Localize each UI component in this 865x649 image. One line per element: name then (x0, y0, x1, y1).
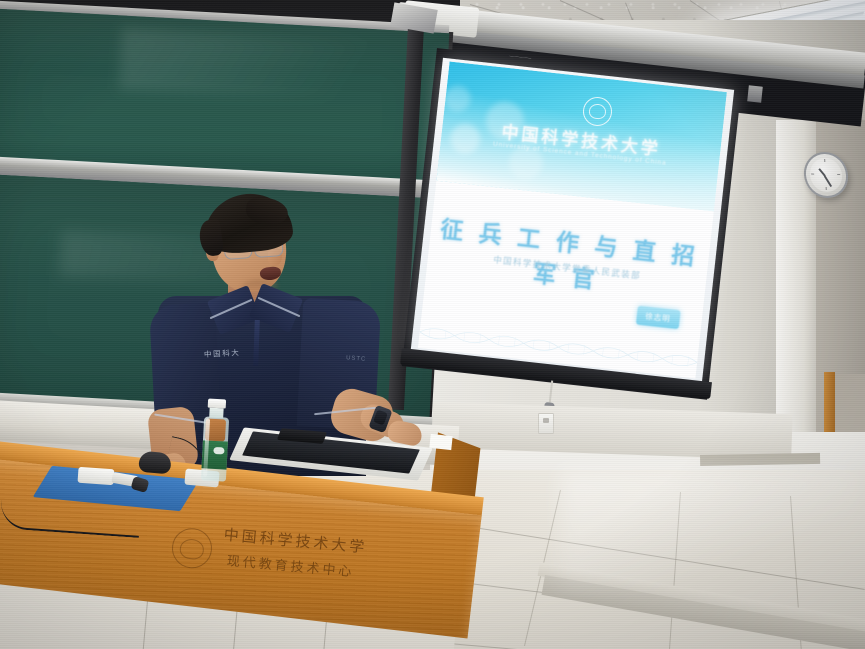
bottle-cap[interactable] (208, 399, 226, 409)
shirt-chest-logo: 中国科大 (204, 347, 241, 360)
wall-power-socket[interactable] (538, 413, 554, 434)
baseboard (700, 453, 820, 466)
floor-reflection (560, 470, 860, 590)
slide-body: 征 兵 工 作 与 直 招 军 官 中国科学技术大学党委人民武装部 徐志明 (418, 181, 714, 379)
presentation-slide: 中国科学技术大学 University of Science and Techn… (418, 61, 727, 378)
paper-sheet (429, 434, 452, 450)
bottle-label-logo (213, 447, 224, 455)
slide-presenter-badge: 徐志明 (635, 306, 680, 330)
rail-bracket (747, 85, 763, 102)
water-bottle[interactable] (200, 398, 231, 481)
bottle-neck (209, 408, 224, 419)
projection-screen: 中国科学技术大学 University of Science and Techn… (402, 48, 742, 400)
classroom-photo: 中国科学技术大学 University of Science and Techn… (0, 0, 865, 649)
microphone-base[interactable] (77, 467, 114, 485)
